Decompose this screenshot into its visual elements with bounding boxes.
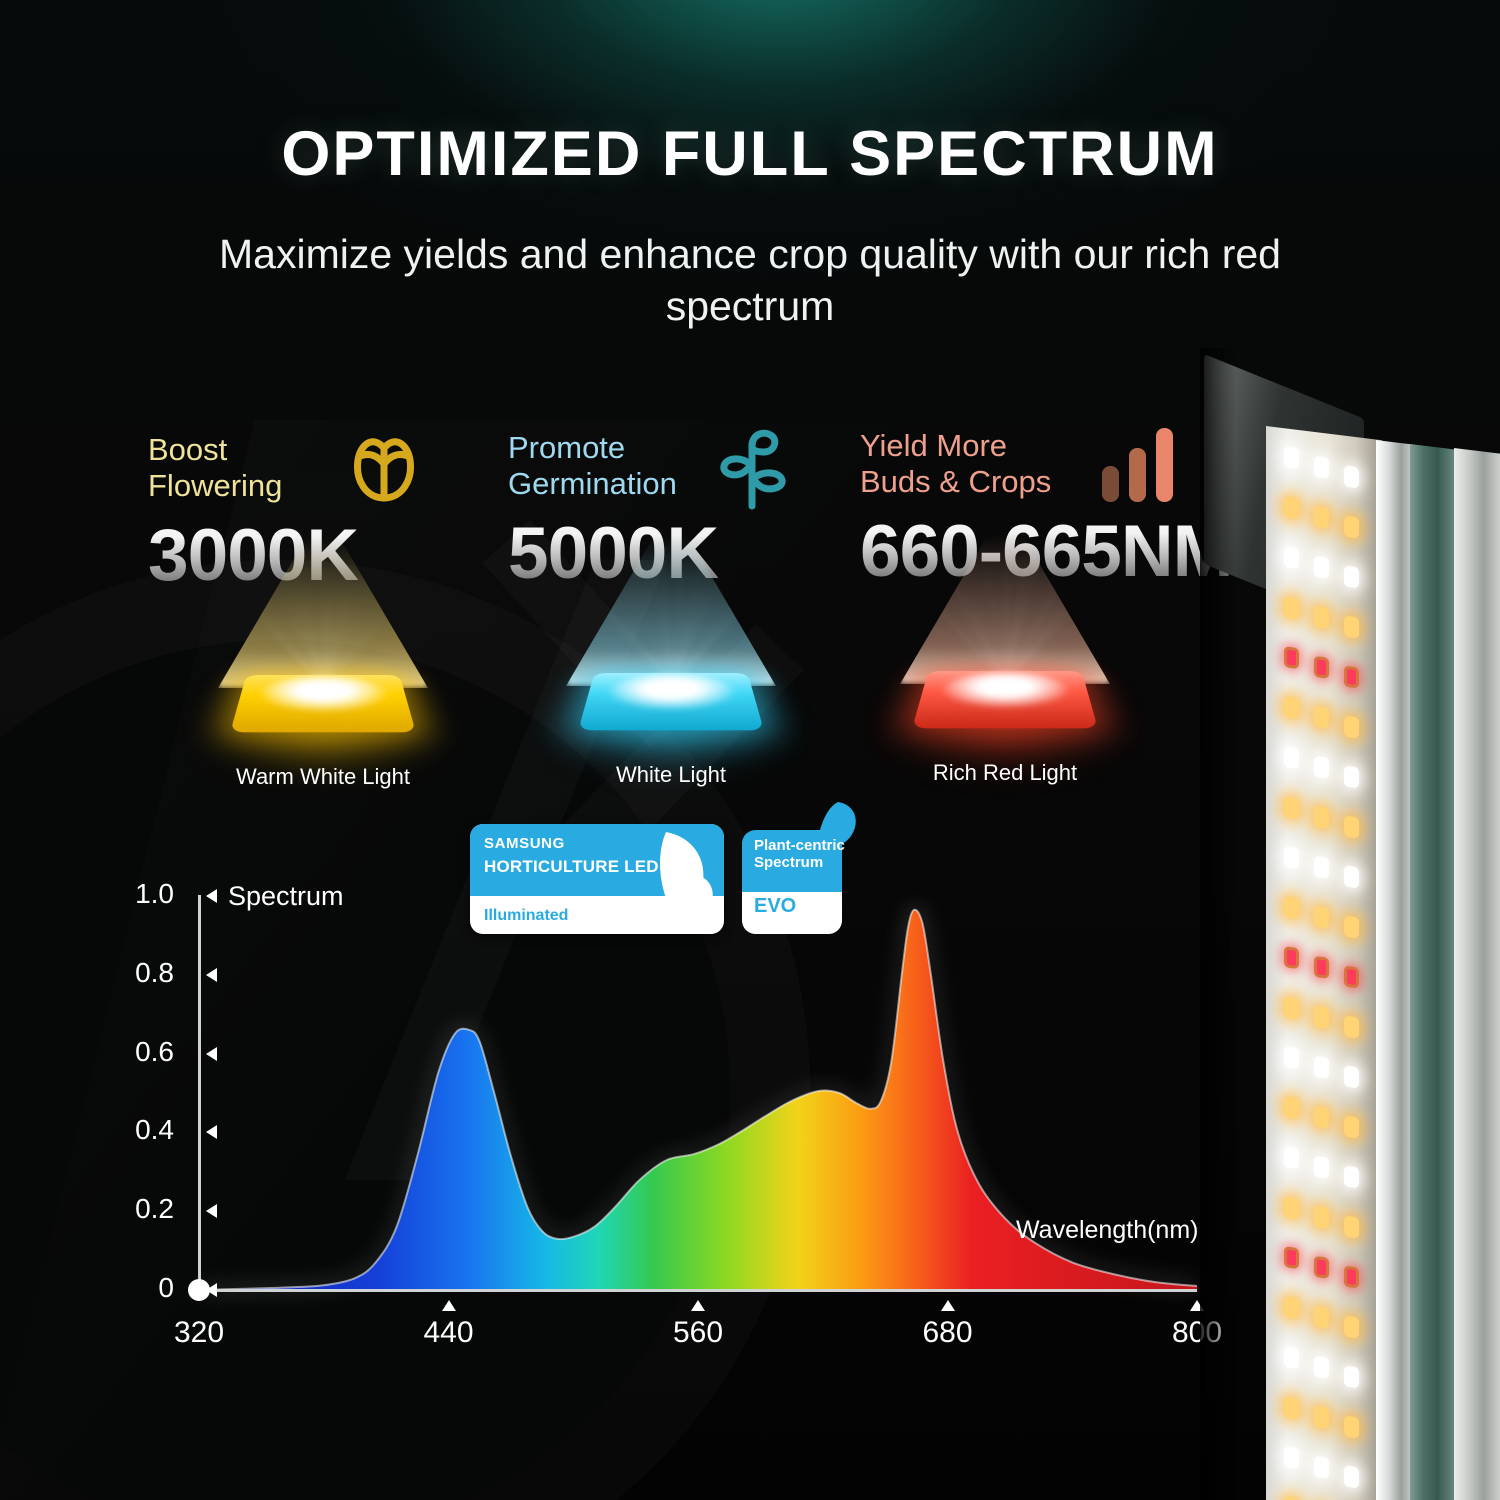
chart-y-tick-label: 0.2	[112, 1193, 174, 1225]
chart-x-axis-label: Wavelength(nm)	[1016, 1216, 1198, 1245]
led-chip-red: Rich Red Light	[880, 576, 1130, 751]
chip-1	[587, 653, 755, 745]
bar-chart-icon	[1096, 424, 1180, 509]
badge-plant-centric-evo: Plant-centric Spectrum EVO	[742, 800, 862, 934]
grow-light-panel	[1200, 348, 1500, 1500]
chip-2	[921, 651, 1089, 743]
chart-y-tick-marker	[206, 1283, 217, 1297]
feature-caption-1: White Light	[616, 762, 726, 788]
feature-title-2: Yield More Buds & Crops	[860, 428, 1051, 500]
chart-x-tick-label: 320	[144, 1316, 254, 1350]
leaf-icon	[632, 828, 718, 928]
feature-caption-0: Warm White Light	[236, 764, 410, 790]
chart-y-tick-marker	[206, 968, 217, 982]
chart-y-tick-label: 0.6	[112, 1036, 174, 1068]
chart-y-tick-label: 1.0	[112, 878, 174, 910]
chart-y-tick-marker	[206, 1204, 217, 1218]
chart-y-axis	[198, 895, 201, 1291]
badge-evo-footer: EVO	[754, 895, 796, 918]
chart-x-axis	[198, 1289, 1197, 1292]
tulip-icon	[338, 426, 430, 515]
chart-x-tick-label: 560	[643, 1316, 753, 1350]
chart-x-tick-marker	[941, 1300, 955, 1311]
led-chip-white: White Light	[546, 578, 796, 753]
feature-caption-2: Rich Red Light	[933, 760, 1077, 786]
chart-y-tick-marker	[206, 1125, 217, 1139]
feature-title-1: Promote Germination	[508, 430, 677, 502]
chart-x-tick-marker	[442, 1300, 456, 1311]
page-title: OPTIMIZED FULL SPECTRUM	[0, 118, 1500, 190]
feature-title-0: Boost Flowering	[148, 432, 282, 504]
chart-y-tick-marker	[206, 1047, 217, 1061]
chart-y-axis-label: Spectrum	[228, 881, 344, 912]
chart-y-tick-label: 0.8	[112, 957, 174, 989]
chip-0	[239, 655, 407, 747]
chart-x-tick-label: 440	[394, 1316, 504, 1350]
chart-x-tick-marker	[691, 1300, 705, 1311]
panel-shadow-overlay	[1200, 348, 1500, 1500]
badge-samsung-line2: HORTICULTURE LED	[484, 857, 659, 877]
chart-y-tick-label: 0.4	[112, 1114, 174, 1146]
promo-banner: OPTIMIZED FULL SPECTRUM Maximize yields …	[0, 0, 1500, 1500]
page-subtitle: Maximize yields and enhance crop quality…	[190, 228, 1310, 333]
badge-samsung-footer: Illuminated	[484, 907, 568, 925]
chart-y-tick-label: 0	[112, 1272, 174, 1304]
sprout-icon	[716, 426, 794, 517]
badge-samsung-horticulture: SAMSUNG HORTICULTURE LED Illuminated	[470, 824, 724, 934]
badge-samsung-line1: SAMSUNG	[484, 835, 565, 852]
chart-x-tick-label: 680	[893, 1316, 1003, 1350]
led-chip-warm-white: Warm White Light	[198, 580, 448, 755]
chart-y-tick-marker	[206, 889, 217, 903]
badge-evo-title: Plant-centric Spectrum	[754, 838, 845, 872]
